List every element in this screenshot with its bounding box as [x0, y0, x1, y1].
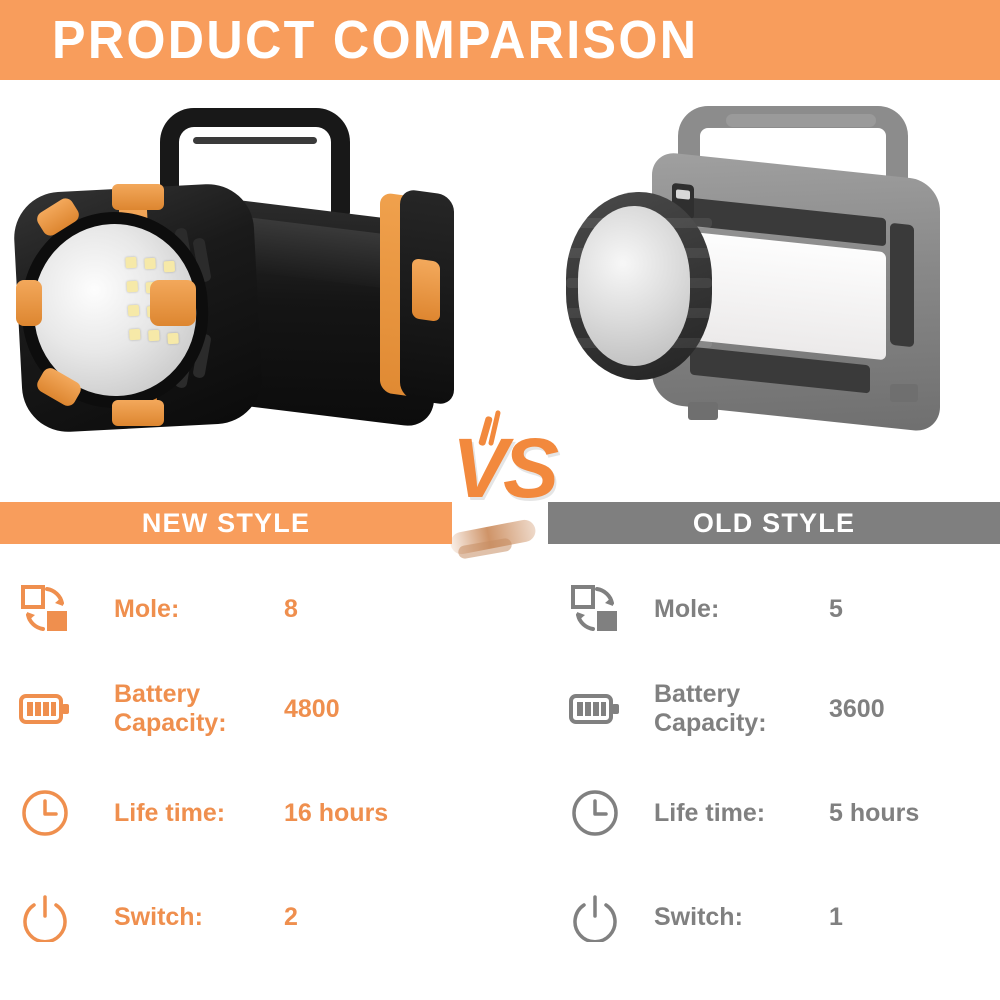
power-icon	[568, 890, 622, 944]
spec-row: Life time: 16 hours	[0, 776, 500, 850]
spec-row: Battery Capacity: 3600	[550, 672, 1000, 746]
spec-row: Switch: 2	[0, 880, 500, 954]
spec-row: Life time: 5 hours	[550, 776, 1000, 850]
spec-value: 2	[284, 903, 500, 932]
old-style-product-image	[560, 102, 980, 452]
spec-comparison-table: Mole: 8 Battery Capacity: 4800	[0, 560, 1000, 960]
clock-icon	[18, 786, 72, 840]
new-style-header-bar: NEW STYLE	[0, 502, 452, 544]
page-title: PRODUCT COMPARISON	[52, 0, 698, 80]
mole-cycle-icon	[18, 582, 72, 636]
old-lens	[578, 206, 690, 366]
spec-row: Mole: 5	[550, 572, 1000, 646]
old-side-light-panel	[690, 232, 886, 361]
old-foot	[890, 384, 918, 402]
new-orange-accent	[16, 280, 42, 326]
spec-value: 4800	[284, 695, 500, 724]
old-style-header-bar: OLD STYLE	[548, 502, 1000, 544]
header-banner: PRODUCT COMPARISON	[0, 0, 1000, 80]
new-orange-accent	[112, 400, 164, 426]
product-comparison-infographic: PRODUCT COMPARISON	[0, 0, 1000, 1000]
spec-label: Switch:	[114, 903, 284, 932]
spec-label: Switch:	[654, 903, 829, 932]
spec-row: Battery Capacity: 4800	[0, 672, 500, 746]
spec-label: Life time:	[654, 799, 829, 828]
spec-value: 3600	[829, 695, 1000, 724]
spec-value: 5 hours	[829, 799, 1000, 828]
spec-label: Life time:	[114, 799, 284, 828]
old-style-label: OLD STYLE	[693, 508, 855, 539]
battery-icon	[568, 682, 622, 736]
old-dark-trim	[890, 223, 914, 348]
clock-icon	[568, 786, 622, 840]
battery-icon	[18, 682, 72, 736]
power-icon	[18, 890, 72, 944]
versus-label: VS	[452, 420, 554, 516]
new-orange-accent	[150, 280, 196, 326]
spec-label: Battery Capacity:	[654, 680, 829, 738]
spec-row: Switch: 1	[550, 880, 1000, 954]
old-style-spec-column: Mole: 5 Battery Capacity: 3600	[550, 560, 1000, 960]
spec-value: 5	[829, 595, 1000, 624]
new-tail-grip	[412, 258, 440, 322]
product-images-area: VS	[0, 80, 1000, 500]
spec-row: Mole: 8	[0, 572, 500, 646]
spec-label: Mole:	[114, 595, 284, 624]
spec-label: Mole:	[654, 595, 829, 624]
versus-mark: VS	[452, 420, 562, 580]
new-style-product-image	[8, 100, 458, 460]
spec-value: 16 hours	[284, 799, 500, 828]
old-foot	[688, 402, 718, 420]
new-orange-accent	[112, 184, 164, 210]
spec-value: 8	[284, 595, 500, 624]
spec-value: 1	[829, 903, 1000, 932]
mole-cycle-icon	[568, 582, 622, 636]
new-style-label: NEW STYLE	[142, 508, 310, 539]
spec-label: Battery Capacity:	[114, 680, 284, 738]
new-style-spec-column: Mole: 8 Battery Capacity: 4800	[0, 560, 500, 960]
